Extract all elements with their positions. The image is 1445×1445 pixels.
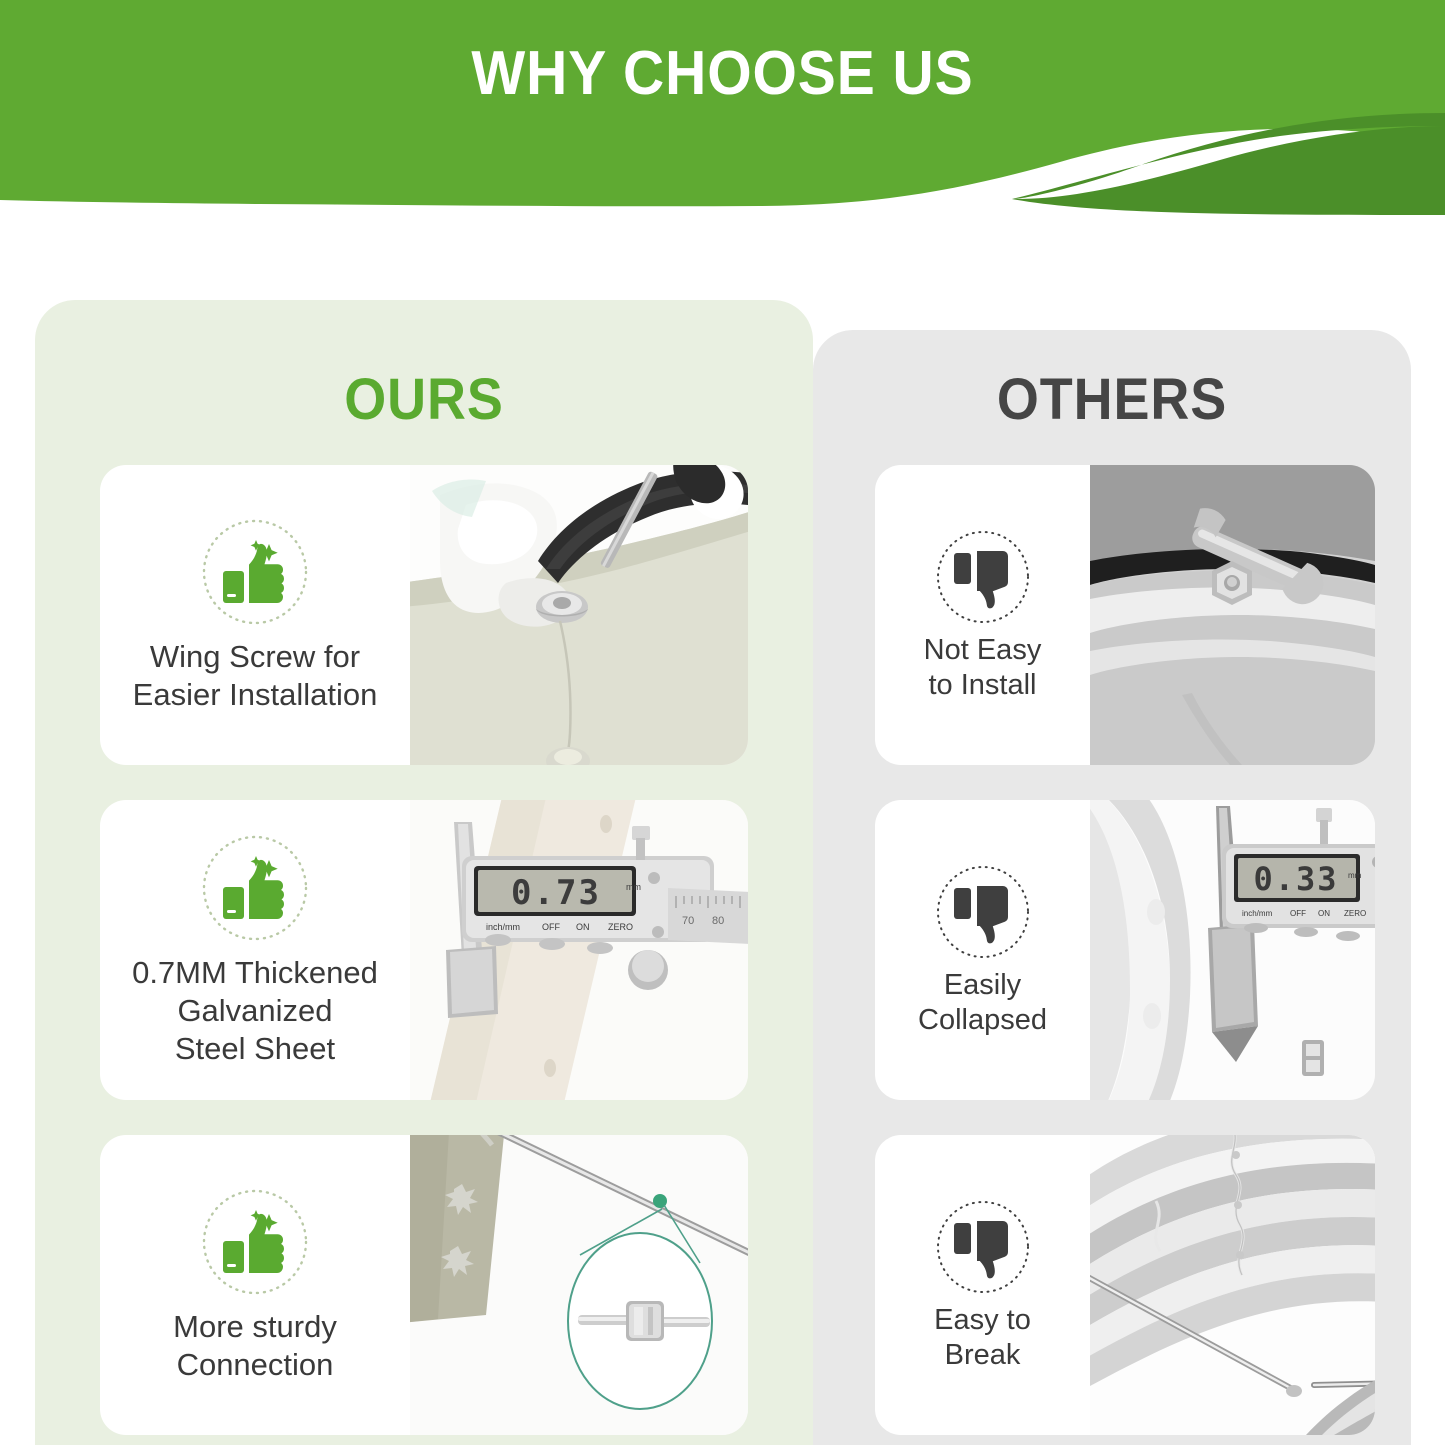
svg-text:inch/mm: inch/mm bbox=[486, 922, 520, 932]
card-label: Not Easy to Install bbox=[924, 633, 1042, 704]
card-label: Easily Collapsed bbox=[918, 968, 1047, 1039]
svg-text:ON: ON bbox=[1318, 909, 1330, 918]
infographic-root: WHY CHOOSE US OURS OTHERS Wing Screw for… bbox=[0, 0, 1445, 1445]
thumbs-down-icon bbox=[933, 527, 1033, 627]
svg-text:mm: mm bbox=[626, 882, 641, 892]
others-feature-card[interactable]: Easily Collapsed bbox=[875, 800, 1375, 1100]
card-label: Wing Screw for Easier Installation bbox=[133, 638, 378, 714]
svg-text:ZERO: ZERO bbox=[1344, 909, 1366, 918]
card-label: 0.7MM Thickened Galvanized Steel Sheet bbox=[132, 954, 378, 1067]
card-text-column: 0.7MM Thickened Galvanized Steel Sheet bbox=[100, 800, 410, 1100]
thumbs-up-sparkle-icon bbox=[199, 832, 311, 944]
card-text-column: Wing Screw for Easier Installation bbox=[100, 465, 410, 765]
thumbs-up-sparkle-icon bbox=[199, 1186, 311, 1298]
card-label: More sturdy Connection bbox=[173, 1308, 337, 1384]
wrench-on-metal-photo bbox=[1090, 465, 1375, 765]
heading-ours: OURS bbox=[62, 366, 786, 433]
card-text-column: More sturdy Connection bbox=[100, 1135, 410, 1435]
others-feature-card[interactable]: Easy to Break bbox=[875, 1135, 1375, 1435]
ours-feature-card[interactable]: Wing Screw for Easier Installation bbox=[100, 465, 748, 765]
page-title: WHY CHOOSE US bbox=[58, 38, 1387, 109]
thumbs-down-icon bbox=[933, 862, 1033, 962]
svg-text:ON: ON bbox=[576, 922, 590, 932]
svg-text:OFF: OFF bbox=[1290, 909, 1306, 918]
card-label: Easy to Break bbox=[934, 1303, 1031, 1374]
ours-feature-card[interactable]: More sturdy Connection bbox=[100, 1135, 748, 1435]
svg-text:ZERO: ZERO bbox=[608, 922, 633, 932]
svg-text:mm: mm bbox=[1348, 871, 1362, 880]
svg-text:70: 70 bbox=[682, 915, 694, 927]
svg-text:0.73: 0.73 bbox=[511, 873, 601, 913]
caliper-measuring-photo: 0.73 mm inch/mm OFF ON ZERO bbox=[410, 800, 748, 1100]
card-text-column: Easily Collapsed bbox=[875, 800, 1090, 1100]
gloved-hand-wing-screw-photo bbox=[410, 465, 748, 765]
corrugated-metal-tubes-photo bbox=[1090, 1135, 1375, 1435]
svg-text:OFF: OFF bbox=[542, 922, 560, 932]
others-feature-card[interactable]: Not Easy to Install bbox=[875, 465, 1375, 765]
heading-others: OTHERS bbox=[834, 366, 1390, 433]
wire-connector-closeup-photo bbox=[410, 1135, 748, 1435]
ours-feature-card[interactable]: 0.7MM Thickened Galvanized Steel Sheet bbox=[100, 800, 748, 1100]
svg-text:inch/mm: inch/mm bbox=[1242, 909, 1273, 918]
caliper-measuring-photo: 0.33 mm inch/mm OFF ON ZERO bbox=[1090, 800, 1375, 1100]
svg-text:80: 80 bbox=[712, 915, 724, 927]
thumbs-down-icon bbox=[933, 1197, 1033, 1297]
svg-text:0.33: 0.33 bbox=[1253, 860, 1338, 898]
card-text-column: Easy to Break bbox=[875, 1135, 1090, 1435]
card-text-column: Not Easy to Install bbox=[875, 465, 1090, 765]
thumbs-up-sparkle-icon bbox=[199, 516, 311, 628]
header-banner: WHY CHOOSE US bbox=[0, 0, 1445, 215]
